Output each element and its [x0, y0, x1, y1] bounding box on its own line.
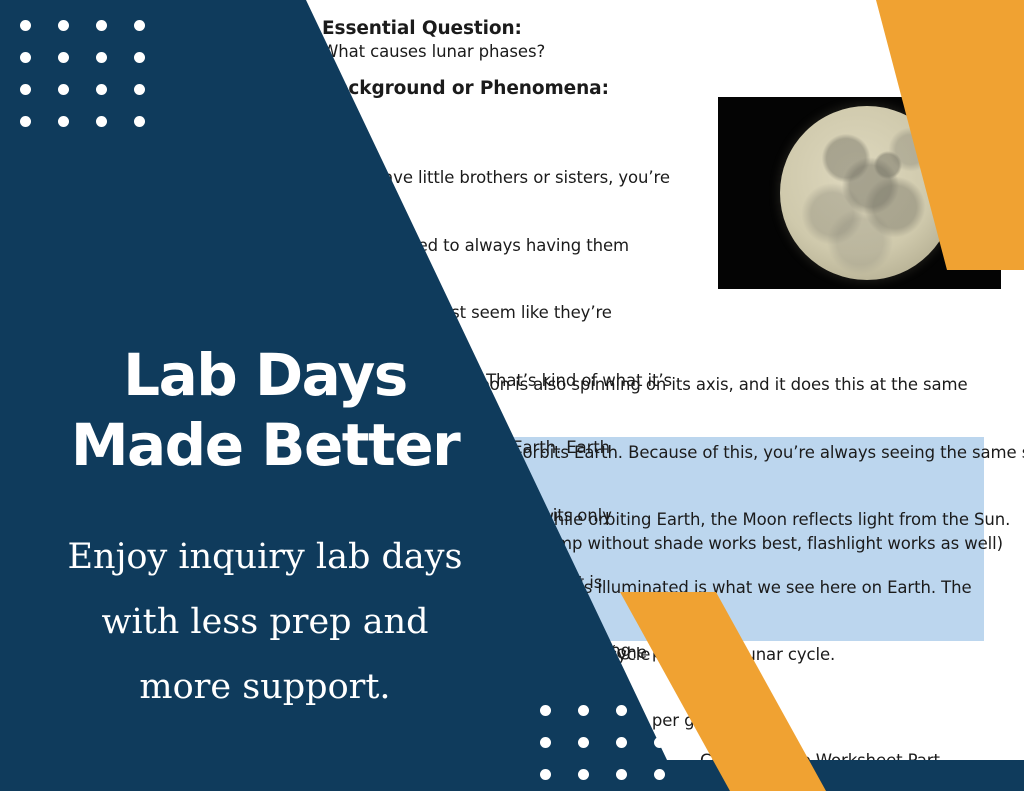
essential-question-body: What causes lunar phases?: [322, 41, 545, 64]
headline-line-2: Made Better: [0, 410, 530, 480]
dot: [134, 52, 145, 63]
subtitle: Enjoy inquiry lab days with less prep an…: [0, 525, 530, 720]
dot: [58, 20, 69, 31]
subtitle-line-1: Enjoy inquiry lab days: [0, 525, 530, 590]
subtitle-line-3: more support.: [0, 655, 530, 720]
dot: [58, 116, 69, 127]
dot: [654, 705, 665, 716]
dot: [616, 769, 627, 780]
dot: [134, 84, 145, 95]
dot: [20, 84, 31, 95]
dot-grid-bottom: [540, 705, 692, 791]
background-heading: Background or Phenomena:: [322, 78, 609, 101]
dot: [134, 116, 145, 127]
dot: [20, 116, 31, 127]
dot: [616, 705, 627, 716]
dot: [578, 769, 589, 780]
subtitle-line-2: with less prep and: [0, 590, 530, 655]
dot: [578, 737, 589, 748]
dot: [134, 20, 145, 31]
dot: [578, 705, 589, 716]
dot: [96, 84, 107, 95]
dot: [96, 116, 107, 127]
dot: [20, 52, 31, 63]
dot: [96, 52, 107, 63]
essential-question-heading: Essential Question:: [322, 18, 522, 41]
headline-line-1: Lab Days: [0, 340, 530, 410]
dot-grid-top-left: [20, 20, 172, 148]
dot: [540, 737, 551, 748]
dot: [96, 20, 107, 31]
dot: [540, 769, 551, 780]
headline: Lab Days Made Better: [0, 340, 530, 480]
dot: [58, 84, 69, 95]
dot: [540, 705, 551, 716]
slide-canvas: Essential Question: What causes lunar ph…: [0, 0, 1024, 791]
dot: [58, 52, 69, 63]
dot: [654, 737, 665, 748]
dot: [20, 20, 31, 31]
dot: [654, 769, 665, 780]
dot: [616, 737, 627, 748]
